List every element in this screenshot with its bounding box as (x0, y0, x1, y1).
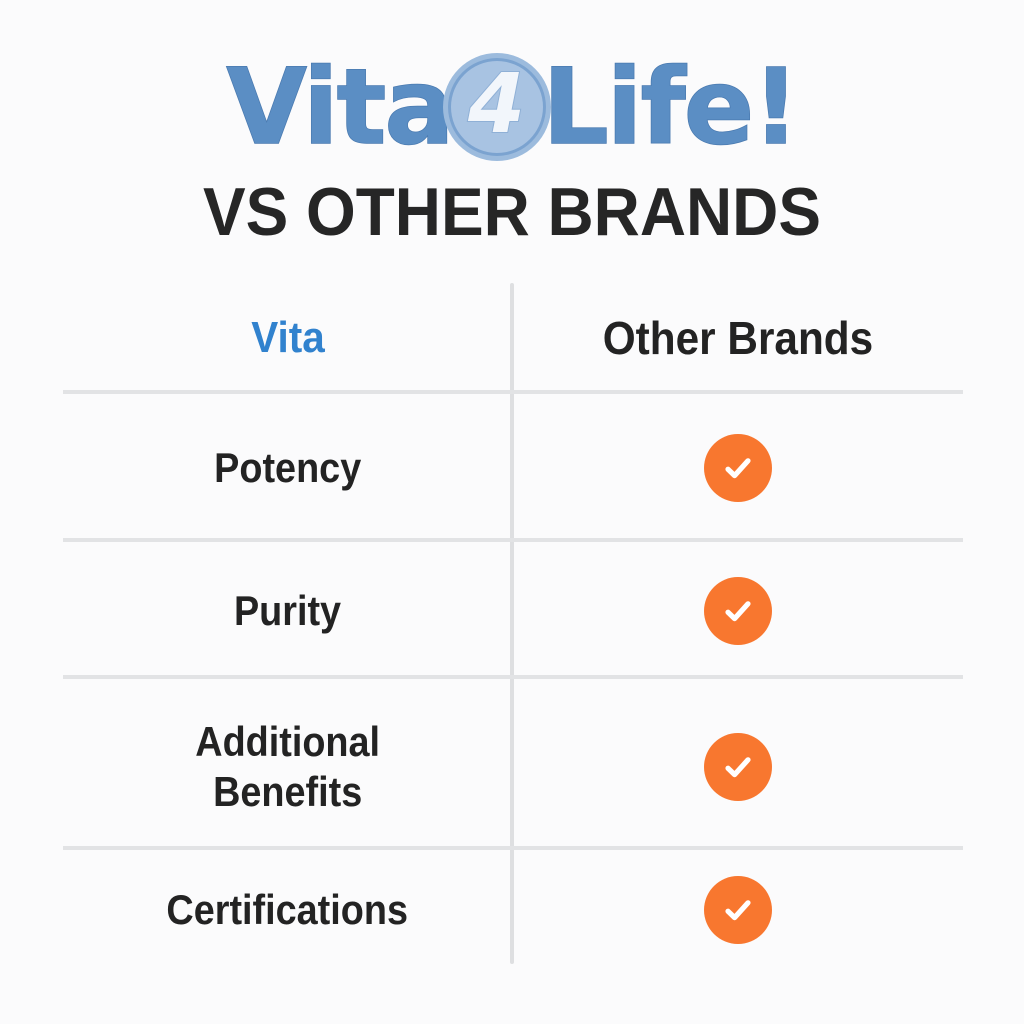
row-label-cell: Potency (63, 396, 512, 540)
row-label-cell: Additional Benefits (63, 681, 512, 852)
table-row: Additional Benefits (63, 681, 963, 852)
row-feature-label-line1: Additional (195, 718, 380, 765)
logo-text-life: Life! (543, 55, 798, 159)
check-circle-icon (704, 434, 772, 502)
row-label-cell: Purity (63, 544, 512, 677)
table-row: Purity (63, 544, 963, 677)
logo-badge-4: 4 (443, 53, 551, 161)
check-circle-icon (704, 876, 772, 944)
check-circle-icon (704, 577, 772, 645)
row-divider (63, 538, 963, 542)
table-header-row: Vita Other Brands (63, 283, 963, 392)
table-row: Certifications (63, 856, 963, 964)
row-other-brands-cell (512, 544, 963, 677)
column-header-vita: Vita (251, 313, 325, 363)
row-divider (63, 390, 963, 394)
row-other-brands-cell (512, 856, 963, 964)
header-cell-vita: Vita (63, 283, 512, 392)
row-divider (63, 675, 963, 679)
row-feature-label: Purity (234, 586, 341, 636)
check-circle-icon (704, 733, 772, 801)
comparison-table: Vita Other Brands Potency Purity (63, 283, 963, 964)
row-label-cell: Certifications (63, 856, 512, 964)
brand-logo: Vita 4 Life! (0, 42, 1024, 172)
page-headline: VS OTHER BRANDS (31, 178, 994, 246)
row-feature-label: Additional Benefits (195, 717, 380, 816)
logo-text-vita: Vita (226, 55, 452, 159)
row-divider (63, 846, 963, 850)
row-other-brands-cell (512, 681, 963, 852)
column-header-other-brands: Other Brands (602, 311, 872, 365)
row-feature-label: Certifications (167, 885, 409, 935)
row-feature-label: Potency (214, 443, 361, 493)
row-other-brands-cell (512, 396, 963, 540)
header-cell-other-brands: Other Brands (512, 283, 963, 392)
logo-badge-number: 4 (468, 64, 525, 146)
row-feature-label-line2: Benefits (213, 768, 362, 815)
table-row: Potency (63, 396, 963, 540)
